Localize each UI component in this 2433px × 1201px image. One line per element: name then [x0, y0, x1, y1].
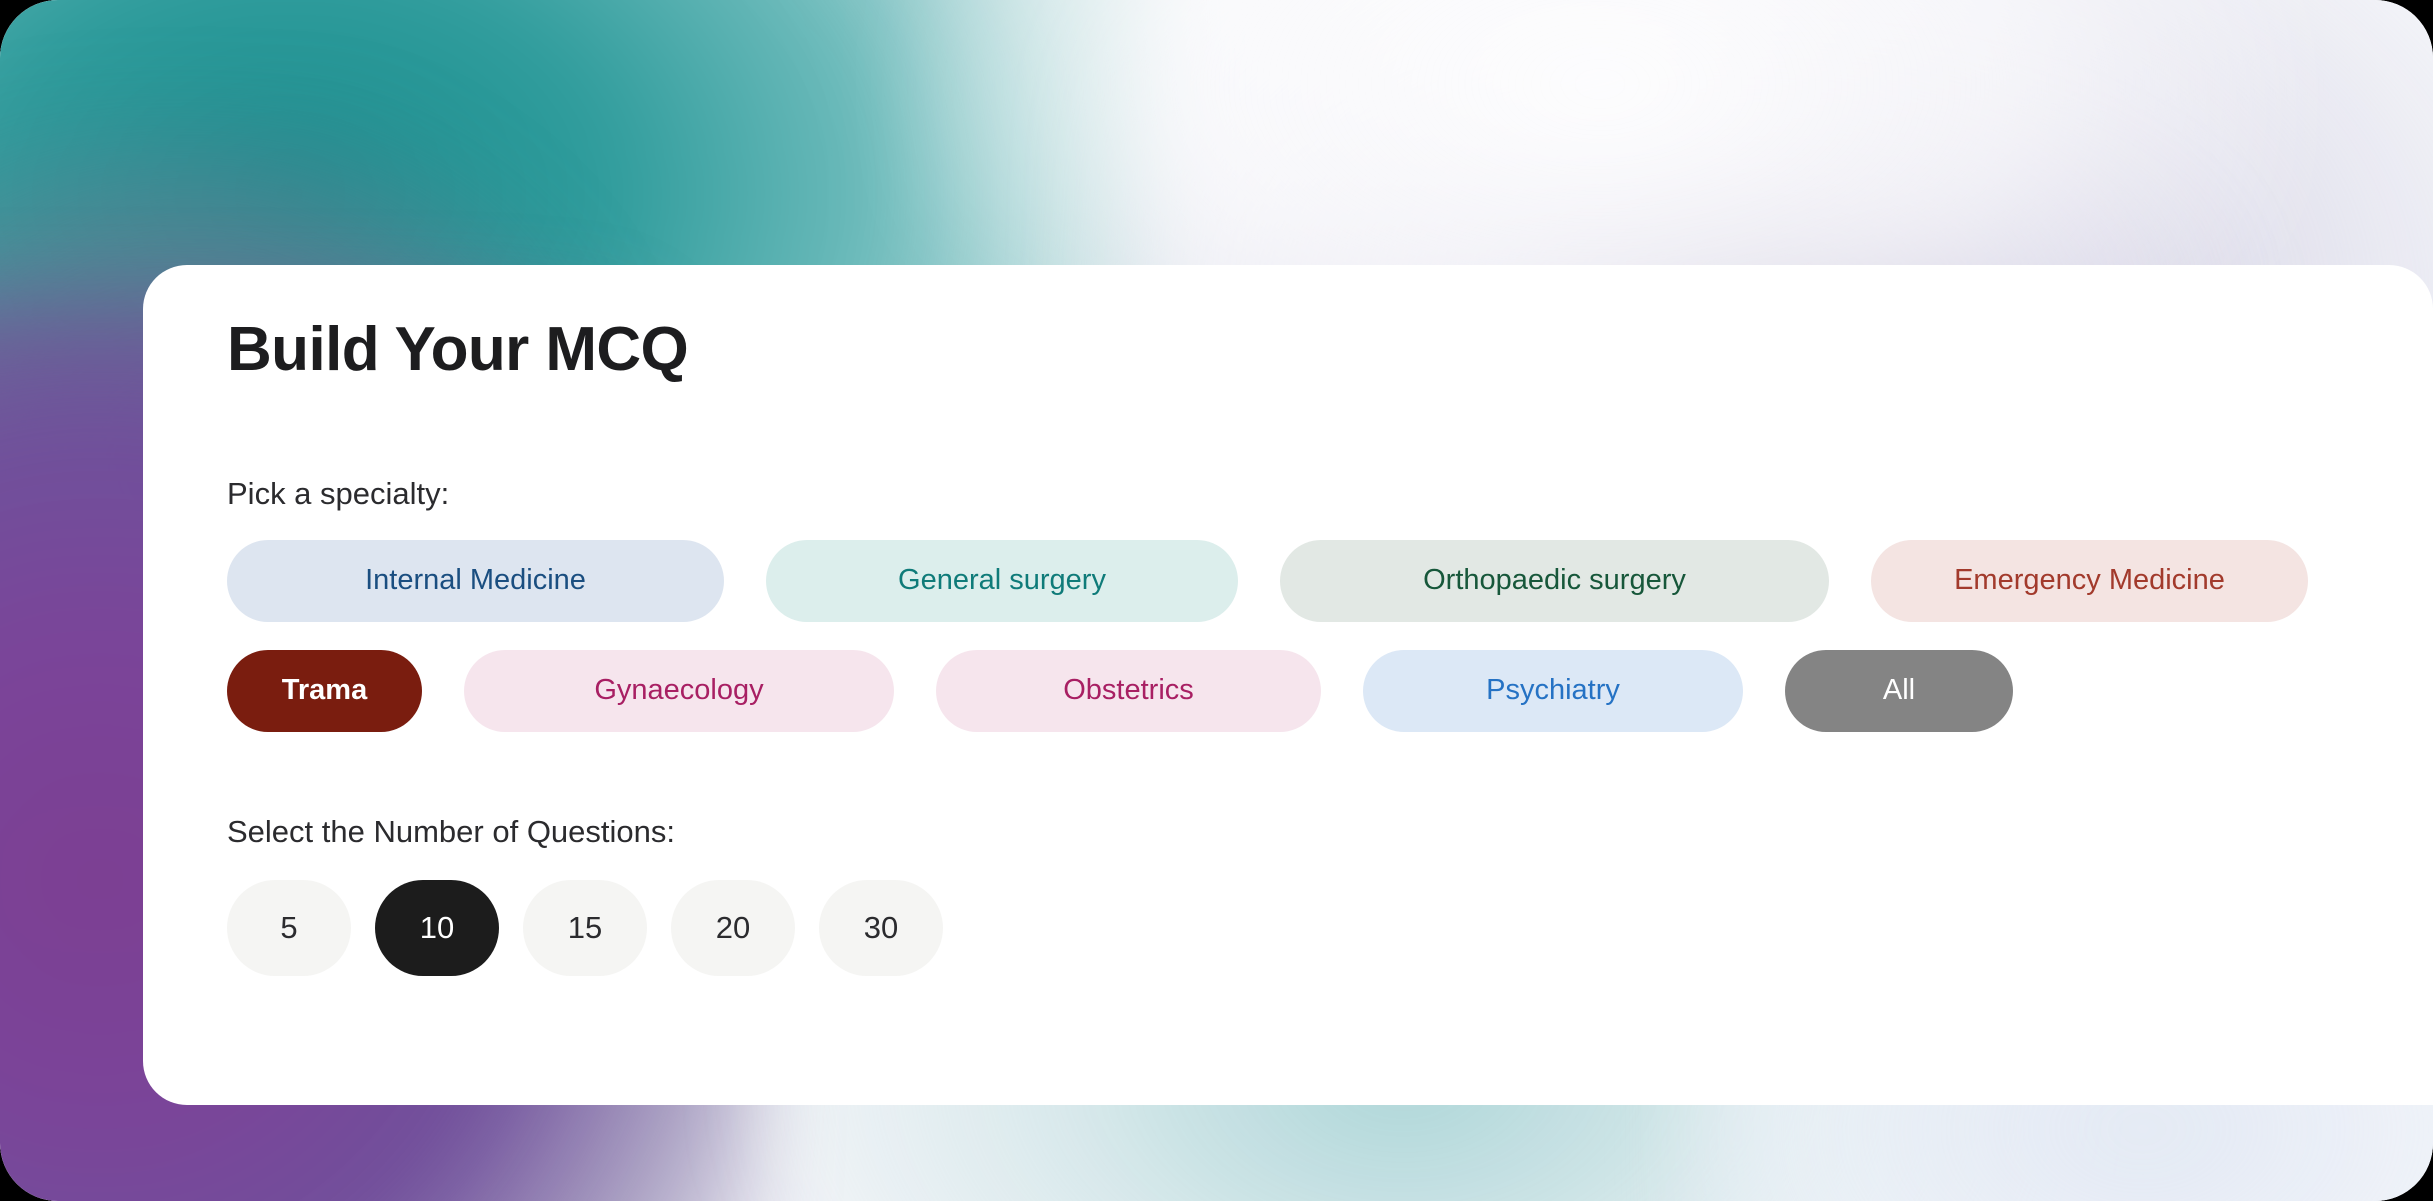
specialty-pill-psychiatry[interactable]: Psychiatry: [1363, 650, 1743, 732]
specialty-pill-orthopaedic-surgery[interactable]: Orthopaedic surgery: [1280, 540, 1829, 622]
app-frame: Build Your MCQ Pick a specialty: Interna…: [0, 0, 2433, 1201]
specialty-pill-obstetrics[interactable]: Obstetrics: [936, 650, 1321, 732]
specialty-pill-emergency-medicine[interactable]: Emergency Medicine: [1871, 540, 2308, 622]
question-count-row: 5 10 15 20 30: [227, 880, 2363, 976]
page-title: Build Your MCQ: [227, 317, 2363, 384]
mcq-builder-card: Build Your MCQ Pick a specialty: Interna…: [143, 265, 2433, 1105]
question-count-option-20[interactable]: 20: [671, 880, 795, 976]
specialty-pill-internal-medicine[interactable]: Internal Medicine: [227, 540, 724, 622]
specialty-pill-row-1: Internal Medicine General surgery Orthop…: [227, 540, 2363, 622]
specialty-pill-general-surgery[interactable]: General surgery: [766, 540, 1238, 622]
specialty-section-label: Pick a specialty:: [227, 476, 2363, 512]
question-count-section-label: Select the Number of Questions:: [227, 814, 2363, 850]
question-count-option-5[interactable]: 5: [227, 880, 351, 976]
question-count-option-30[interactable]: 30: [819, 880, 943, 976]
question-count-option-15[interactable]: 15: [523, 880, 647, 976]
specialty-pill-row-2: Trama Gynaecology Obstetrics Psychiatry …: [227, 650, 2363, 732]
question-count-option-10[interactable]: 10: [375, 880, 499, 976]
specialty-pill-trama[interactable]: Trama: [227, 650, 422, 732]
specialty-pill-gynaecology[interactable]: Gynaecology: [464, 650, 894, 732]
specialty-pill-all[interactable]: All: [1785, 650, 2013, 732]
